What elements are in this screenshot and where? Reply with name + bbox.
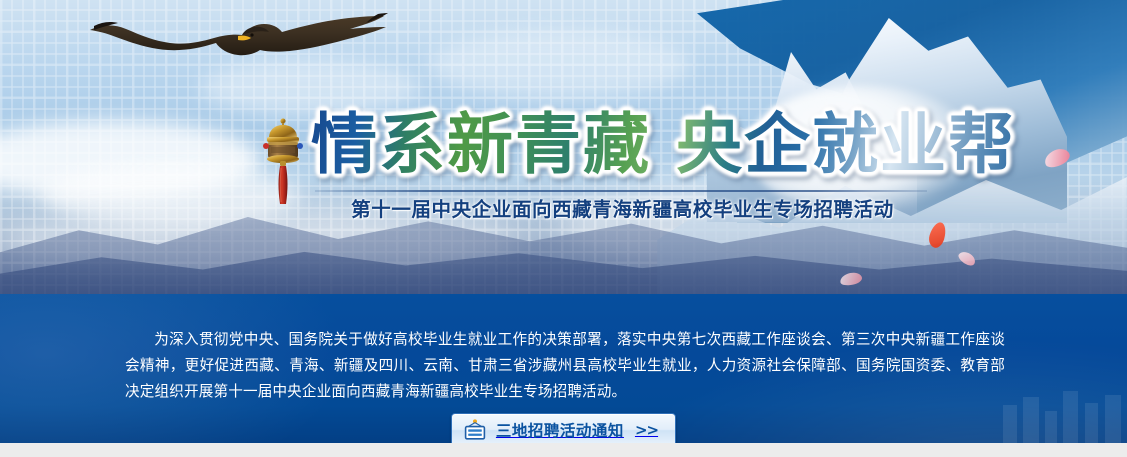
page-bottom-strip — [0, 443, 1127, 457]
tibetan-prayer-wheel-icon — [255, 116, 311, 206]
cloud-decoration — [0, 120, 260, 200]
notice-button[interactable]: 三地招聘活动通知 >> — [451, 413, 676, 443]
notice-board-icon — [463, 419, 487, 441]
page-title: 情系新青藏 央企就业帮 — [311, 106, 1016, 184]
title-divider — [315, 190, 927, 192]
soaring-eagle-icon — [88, 8, 388, 74]
cloud-decoration — [430, 30, 690, 100]
page-subtitle: 第十一届中央企业面向西藏青海新疆高校毕业生专场招聘活动 — [315, 196, 930, 224]
hero-banner: 情系新青藏 央企就业帮 第十一届中央企业面向西藏青海新疆高校毕业生专场招聘活动 — [0, 0, 1127, 294]
button-row: 三地招聘活动通知 >> — [0, 413, 1127, 443]
announcement-paragraph: 为深入贯彻党中央、国务院关于做好高校毕业生就业工作的决策部署，落实中央第七次西藏… — [125, 327, 1005, 405]
promo-banner-page: 情系新青藏 央企就业帮 第十一届中央企业面向西藏青海新疆高校毕业生专场招聘活动 … — [0, 0, 1127, 457]
notice-button-label: 三地招聘活动通知 — [496, 419, 624, 441]
title-block: 情系新青藏 央企就业帮 第十一届中央企业面向西藏青海新疆高校毕业生专场招聘活动 — [255, 112, 935, 227]
info-panel: 为深入贯彻党中央、国务院关于做好高校毕业生就业工作的决策部署，落实中央第七次西藏… — [0, 294, 1127, 443]
notice-button-arrows: >> — [635, 421, 658, 439]
